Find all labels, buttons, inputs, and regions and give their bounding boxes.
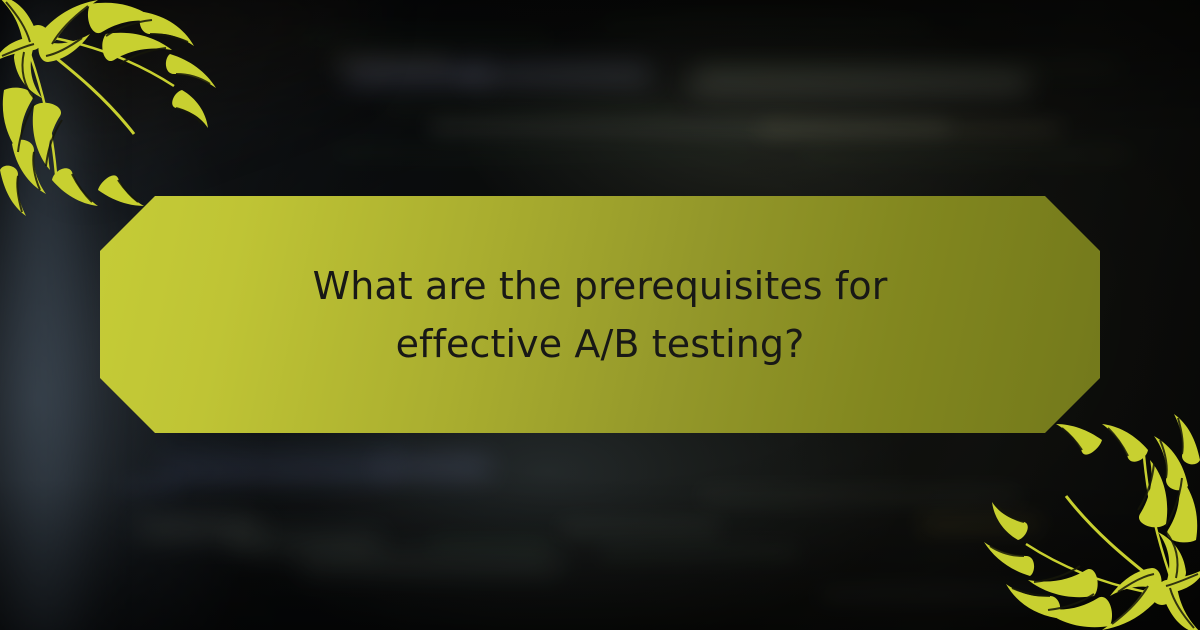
headline-banner: What are the prerequisites for effective…: [100, 196, 1100, 433]
share-card-canvas: What are the prerequisites for effective…: [0, 0, 1200, 630]
headline-text: What are the prerequisites for effective…: [230, 257, 970, 373]
